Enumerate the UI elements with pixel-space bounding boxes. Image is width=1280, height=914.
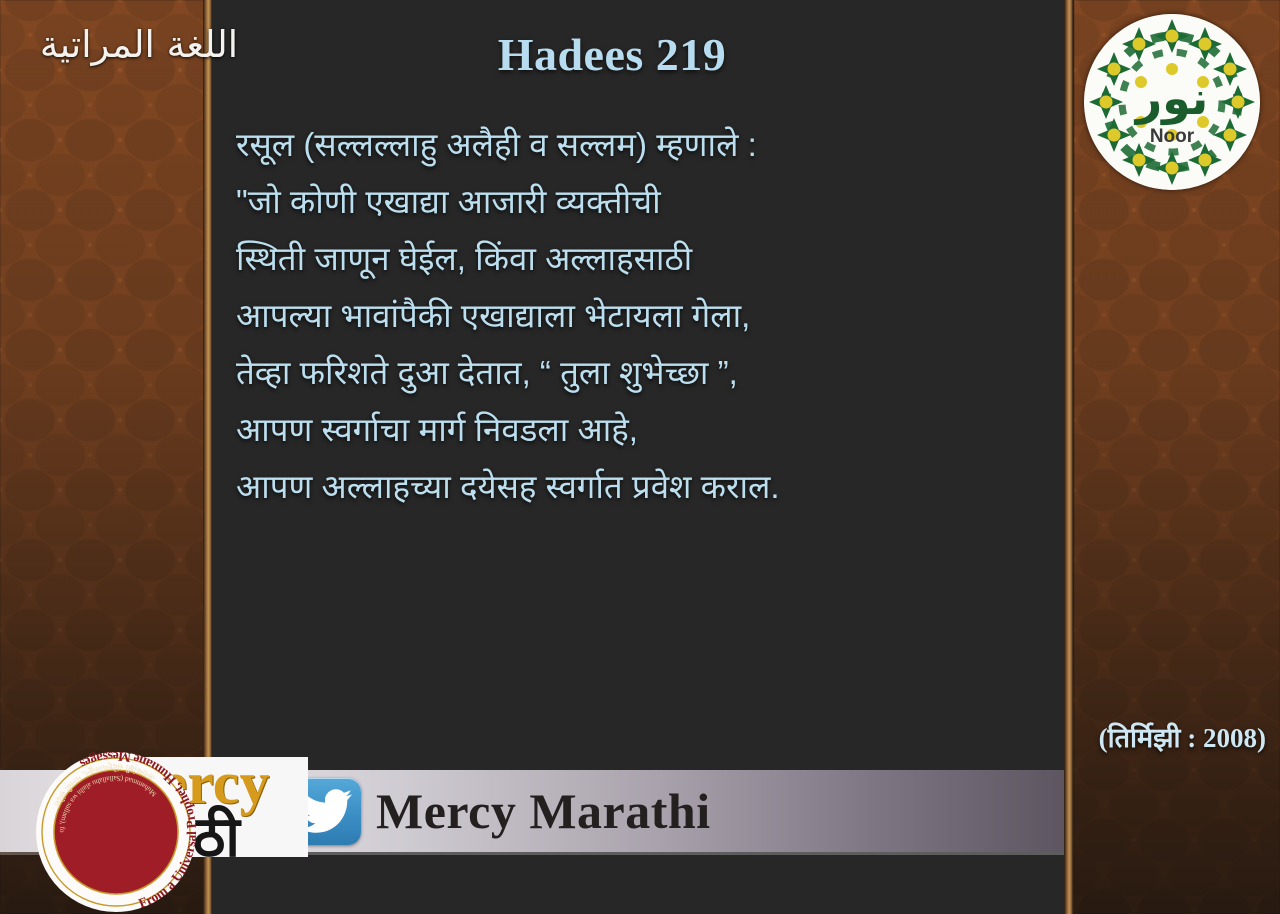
hadith-line: आपण अल्लाहच्या दयेसह स्वर्गात प्रवेश करा… xyxy=(236,470,1066,503)
footer-handle: Mercy Marathi xyxy=(376,782,711,840)
hadith-line: आपण स्वर्गाचा मार्ग निवडला आहे, xyxy=(236,413,1066,446)
mercy-marathi-logo: From a Universal Prophet, Humane Message… xyxy=(18,752,214,914)
source-citation: (तिर्मिझी : 2008) xyxy=(426,718,1266,755)
page-title: Hadees 219 xyxy=(212,28,1012,81)
mercy-logo-graphic: From a Universal Prophet, Humane Message… xyxy=(18,752,214,914)
noor-arabic-text: نور xyxy=(1134,71,1209,125)
hadith-line: आपल्या भावांपैकी एखाद्याला भेटायला गेला, xyxy=(236,299,1066,332)
hadith-line: "जो कोणी एखाद्या आजारी व्यक्तीची xyxy=(236,185,1066,218)
hadith-line: रसूल (सल्लल्लाहु अलैही व सल्लम) म्हणाले … xyxy=(236,128,1066,161)
noor-latin-text: Noor xyxy=(1150,126,1195,147)
noor-logo-graphic: نور Noor xyxy=(1084,14,1260,190)
hadith-body: रसूल (सल्लल्लाहु अलैही व सल्लम) म्हणाले … xyxy=(236,128,1066,527)
twitter-bird-glyph xyxy=(301,788,354,835)
noor-logo: نور Noor xyxy=(1084,14,1260,190)
hadith-line: तेव्हा फरिशते दुआ देतात, “ तुला शुभेच्छा… xyxy=(236,356,1066,389)
hadith-line: स्थिती जाणून घेईल, किंवा अल्लाहसाठी xyxy=(236,242,1066,275)
hadith-poster: اللغة المراتية Hadees 219 रसूल (सल्लल्ला… xyxy=(0,0,1280,914)
